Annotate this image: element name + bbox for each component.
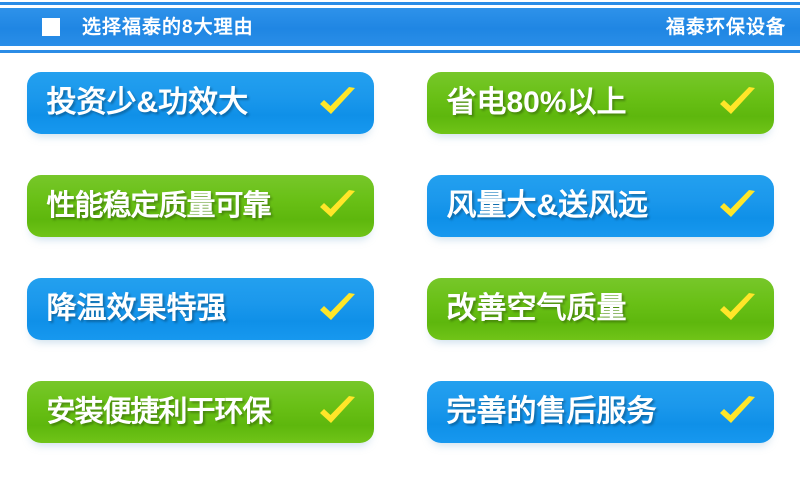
feature-label: 性能稳定质量可靠	[47, 192, 320, 221]
feature-item-6[interactable]: 改善空气质量	[427, 278, 774, 340]
feature-cell: 降温效果特强	[0, 278, 400, 381]
feature-item-2[interactable]: 省电80%以上	[427, 72, 774, 134]
yellow-check-icon	[318, 395, 358, 429]
feature-cell: 完善的售后服务	[400, 381, 800, 484]
feature-item-1[interactable]: 投资少&功效大	[27, 72, 374, 134]
feature-item-3[interactable]: 性能稳定质量可靠	[27, 175, 374, 237]
feature-label: 投资少&功效大	[47, 88, 314, 118]
feature-cell: 风量大&送风远	[400, 175, 800, 278]
feature-cell: 改善空气质量	[400, 278, 800, 381]
feature-cell: 安装便捷利于环保	[0, 381, 400, 484]
yellow-check-icon	[318, 86, 358, 120]
yellow-check-icon	[718, 395, 758, 429]
yellow-check-icon	[318, 189, 358, 223]
feature-label: 完善的售后服务	[447, 397, 714, 427]
brand-name: 福泰环保设备	[666, 18, 786, 37]
header-bottom-rule	[0, 50, 800, 53]
feature-item-4[interactable]: 风量大&送风远	[427, 175, 774, 237]
feature-cell: 性能稳定质量可靠	[0, 175, 400, 278]
yellow-check-icon	[718, 86, 758, 120]
feature-label: 省电80%以上	[447, 88, 714, 118]
feature-list: 投资少&功效大 省电80%以上 性能稳定质量可靠 风量大&送风远	[0, 72, 800, 484]
header-top-rule	[0, 2, 800, 5]
feature-cell: 省电80%以上	[400, 72, 800, 175]
yellow-check-icon	[718, 292, 758, 326]
feature-cell: 投资少&功效大	[0, 72, 400, 175]
feature-label: 改善空气质量	[447, 294, 714, 324]
header-bar: 选择福泰的8大理由 福泰环保设备	[0, 8, 800, 46]
feature-label: 降温效果特强	[47, 294, 314, 324]
yellow-check-icon	[718, 189, 758, 223]
feature-label: 风量大&送风远	[447, 191, 714, 221]
page-header: 选择福泰的8大理由 福泰环保设备	[0, 0, 800, 56]
white-square-bullet-icon	[42, 18, 60, 36]
feature-item-8[interactable]: 完善的售后服务	[427, 381, 774, 443]
feature-label: 安装便捷利于环保	[47, 398, 320, 427]
feature-item-5[interactable]: 降温效果特强	[27, 278, 374, 340]
feature-item-7[interactable]: 安装便捷利于环保	[27, 381, 374, 443]
yellow-check-icon	[318, 292, 358, 326]
page-title: 选择福泰的8大理由	[82, 18, 254, 37]
